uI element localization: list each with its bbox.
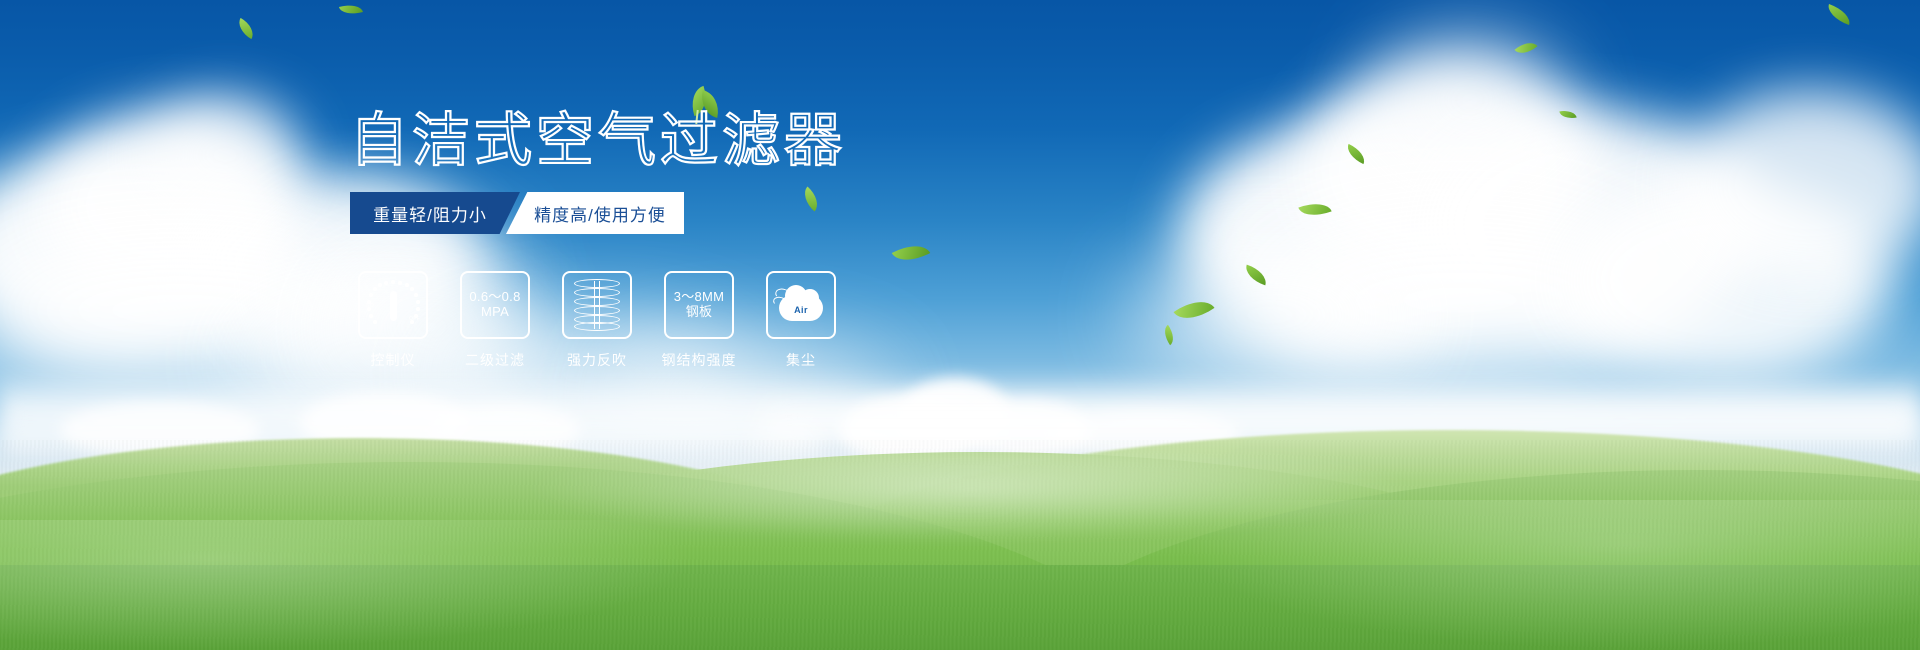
feature-caption: 控制仪 (371, 350, 416, 370)
gauge-label-no: NO (366, 304, 374, 310)
feature-item[interactable]: 3～8MM 钢板 钢结构强度 (664, 271, 734, 370)
feature-icon-box (562, 271, 632, 339)
feature-caption: 强力反吹 (567, 350, 627, 370)
gauge-label-off: OFF (409, 317, 420, 323)
feature-item[interactable]: Air 集尘 (766, 271, 836, 370)
steel-material: 钢板 (674, 305, 725, 320)
feature-icon-box: Air (766, 271, 836, 339)
page-title: 自洁式空气过滤器 (350, 112, 846, 170)
tagline-tabs: 重量轻/阻力小 精度高/使用方便 (350, 192, 684, 234)
feature-caption: 钢结构强度 (662, 350, 737, 370)
air-cloud-icon: Air (775, 283, 827, 327)
feature-icon-box: 0.6～0.8 MPA (460, 271, 530, 339)
gauge-icon: NO OFF (367, 280, 419, 330)
feature-item[interactable]: 强力反吹 (562, 271, 632, 370)
steel-thickness: 3～8MM (674, 290, 725, 305)
feature-icon-box: NO OFF (358, 271, 428, 339)
tab-precision-convenience[interactable]: 精度高/使用方便 (506, 192, 684, 234)
hero-banner: 自洁式空气过滤器 重量轻/阻力小 精度高/使用方便 (0, 0, 1920, 650)
pressure-text-icon: 0.6～0.8 MPA (469, 290, 520, 320)
feature-item[interactable]: NO OFF 控制仪 (358, 271, 428, 370)
pressure-value: 0.6～0.8 (469, 290, 520, 305)
filter-stack-icon (574, 279, 620, 331)
feature-icon-box: 3～8MM 钢板 (664, 271, 734, 339)
feature-caption: 集尘 (786, 350, 816, 370)
feature-item[interactable]: 0.6～0.8 MPA 二级过滤 (460, 271, 530, 370)
tab-weight-resistance[interactable]: 重量轻/阻力小 (350, 192, 520, 234)
banner-content: 自洁式空气过滤器 重量轻/阻力小 精度高/使用方便 (0, 0, 1920, 650)
feature-list: NO OFF 控制仪 0.6～0.8 MPA 二级过滤 (358, 271, 836, 370)
feature-caption: 二级过滤 (465, 350, 525, 370)
air-label: Air (775, 305, 827, 315)
pressure-unit: MPA (469, 305, 520, 320)
steel-plate-text-icon: 3～8MM 钢板 (674, 290, 725, 320)
